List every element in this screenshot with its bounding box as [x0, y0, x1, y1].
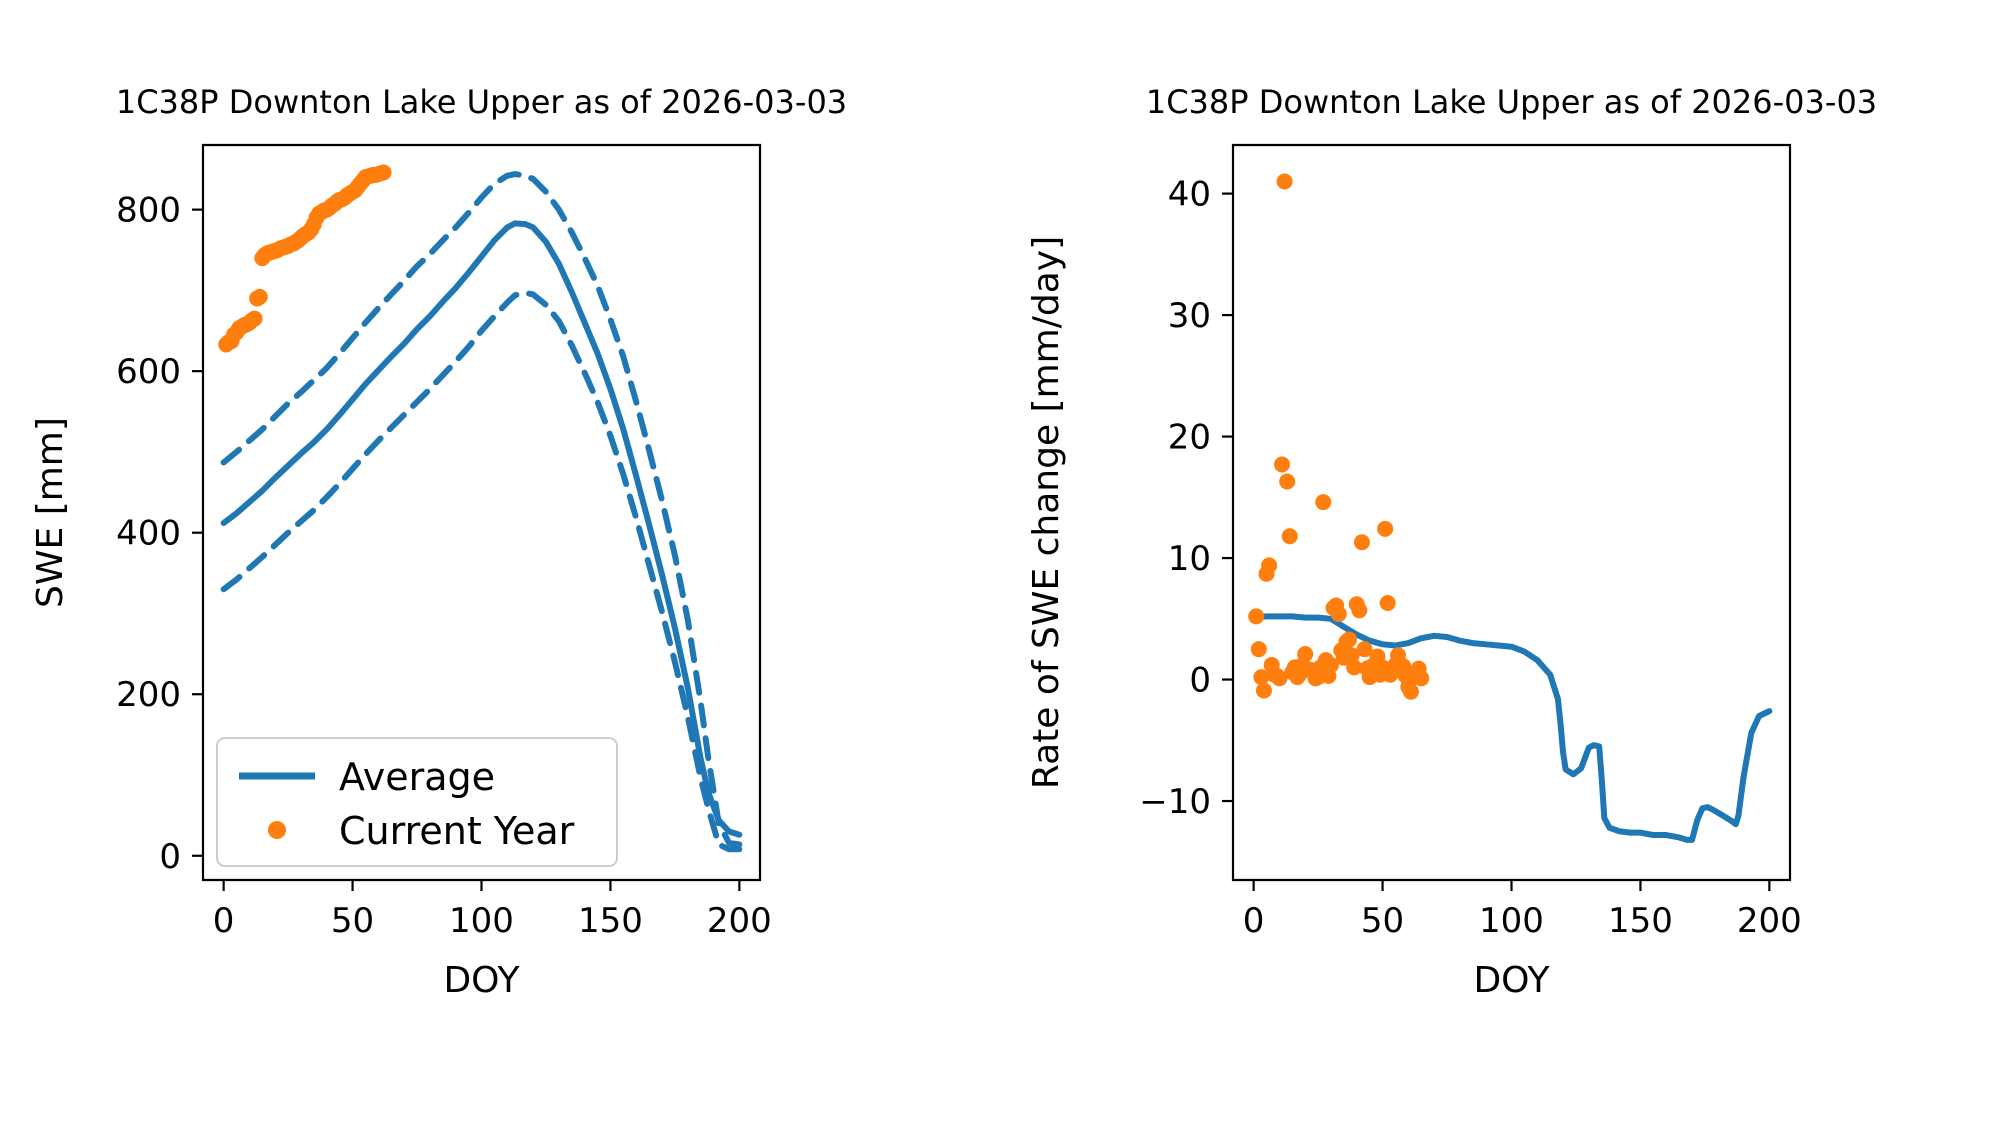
y-tick-label: 600 — [116, 352, 181, 392]
panel-title: 1C38P Downton Lake Upper as of 2026-03-0… — [116, 83, 847, 121]
scatter-point — [252, 289, 268, 305]
y-tick-label: 0 — [1189, 661, 1211, 701]
scatter-point — [376, 164, 392, 180]
y-tick-label: 10 — [1168, 539, 1211, 579]
swe-panel: 1C38P Downton Lake Upper as of 2026-03-0… — [0, 0, 1000, 1142]
legend-entry-label: Current Year — [339, 809, 575, 853]
scatter-point — [1282, 528, 1298, 544]
scatter-point — [1413, 670, 1429, 686]
x-axis-label: DOY — [1473, 960, 1550, 1001]
scatter-point — [1248, 608, 1264, 624]
scatter-point — [247, 311, 263, 327]
scatter-point — [1380, 595, 1396, 611]
x-tick-label: 150 — [1608, 901, 1673, 941]
scatter-point — [1315, 494, 1331, 510]
y-tick-label: 200 — [116, 675, 181, 715]
legend: AverageCurrent Year — [217, 738, 617, 866]
swe-plot-area: 1C38P Downton Lake Upper as of 2026-03-0… — [0, 0, 1000, 1142]
x-tick-label: 50 — [1361, 901, 1404, 941]
scatter-point — [1354, 534, 1370, 550]
scatter-series — [1248, 173, 1429, 699]
scatter-point — [1274, 457, 1290, 473]
x-tick-label: 0 — [213, 901, 235, 941]
y-tick-label: 400 — [116, 514, 181, 554]
axes-frame — [1233, 145, 1790, 880]
x-tick-label: 100 — [1479, 901, 1544, 941]
y-tick-label: 0 — [159, 837, 181, 877]
panel-title: 1C38P Downton Lake Upper as of 2026-03-0… — [1146, 83, 1877, 121]
scatter-point — [1331, 606, 1347, 622]
y-axis-label: SWE [mm] — [30, 417, 71, 608]
y-tick-label: 20 — [1168, 418, 1211, 458]
scatter-point — [1351, 602, 1367, 618]
scatter-point — [1261, 557, 1277, 573]
y-tick-label: 40 — [1168, 175, 1211, 215]
y-tick-label: 800 — [116, 191, 181, 231]
scatter-point — [1279, 474, 1295, 490]
x-axis-label: DOY — [443, 960, 520, 1001]
data-group — [1248, 173, 1769, 839]
scatter-point — [1403, 684, 1419, 700]
x-tick-label: 200 — [707, 901, 772, 941]
figure-canvas: 1C38P Downton Lake Upper as of 2026-03-0… — [0, 0, 2000, 1142]
legend-dot-swatch — [268, 821, 286, 839]
y-axis-label: Rate of SWE change [mm/day] — [1026, 236, 1067, 789]
x-tick-label: 200 — [1737, 901, 1802, 941]
scatter-point — [1256, 682, 1272, 698]
rate-plot-area: 1C38P Downton Lake Upper as of 2026-03-0… — [1000, 0, 2000, 1142]
y-tick-label: −10 — [1139, 782, 1211, 822]
scatter-point — [1297, 646, 1313, 662]
x-tick-label: 150 — [578, 901, 643, 941]
scatter-point — [1377, 521, 1393, 537]
x-tick-label: 50 — [331, 901, 374, 941]
x-tick-label: 0 — [1243, 901, 1265, 941]
scatter-point — [1341, 631, 1357, 647]
y-tick-label: 30 — [1168, 296, 1211, 336]
x-tick-label: 100 — [449, 901, 514, 941]
rate-panel: 1C38P Downton Lake Upper as of 2026-03-0… — [1000, 0, 2000, 1142]
legend-entry-label: Average — [339, 755, 495, 799]
average-line — [1254, 616, 1770, 840]
scatter-point — [1251, 641, 1267, 657]
scatter-point — [1277, 173, 1293, 189]
